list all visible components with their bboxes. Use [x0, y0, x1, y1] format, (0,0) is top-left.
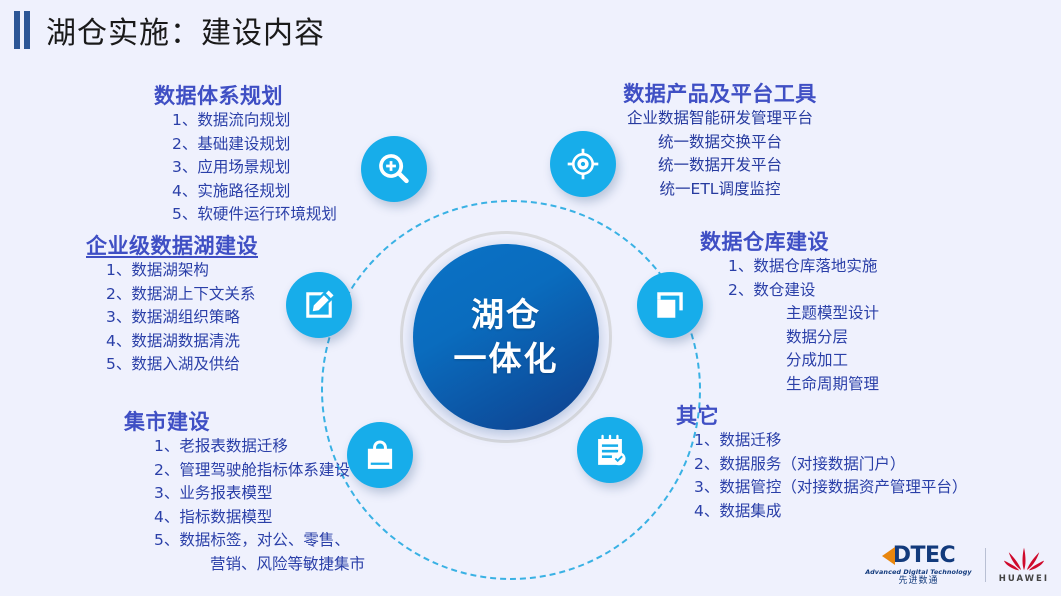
shopping-bag-icon: [363, 438, 397, 472]
huawei-flower-icon: [1004, 547, 1044, 571]
list-item: 2、数仓建设: [728, 279, 879, 303]
list-sub-item: 生命周期管理: [728, 373, 879, 397]
list-item: 3、应用场景规划: [172, 156, 337, 180]
node-enterprise-data-lake[interactable]: [286, 272, 352, 338]
title-accent-bars: [14, 11, 30, 49]
accent-bar-1: [14, 11, 20, 49]
dtec-logo-text: DTEC: [893, 545, 955, 567]
dtec-chinese-name: 先进数通: [898, 577, 938, 586]
list-item: 3、业务报表模型: [154, 482, 365, 506]
list-item: 5、数据标签，对公、零售、: [154, 529, 365, 553]
block-data-system-planning: 数据体系规划 1、数据流向规划 2、基础建设规划 3、应用场景规划 4、实施路径…: [148, 84, 337, 227]
edit-pencil-square-icon: [302, 288, 336, 322]
list-item: 1、数据湖架构: [106, 259, 258, 283]
block-list: 1、数据仓库落地实施 2、数仓建设 主题模型设计 数据分层 分成加工 生命周期管…: [700, 255, 879, 396]
huawei-logo-text: HUAWEI: [999, 574, 1049, 584]
page-title-text: 湖仓实施：建设内容: [46, 8, 325, 52]
block-list: 1、老报表数据迁移 2、管理驾驶舱指标体系建设 3、业务报表模型 4、指标数据模…: [124, 435, 365, 576]
list-item: 4、数据湖数据清洗: [106, 330, 258, 354]
list-item: 2、数据服务（对接数据门户）: [694, 453, 967, 477]
list-item: 统一数据交换平台: [596, 131, 844, 155]
hub-label-line1: 湖仓: [471, 293, 541, 337]
hub-label-line2: 一体化: [454, 337, 559, 381]
block-list: 1、数据湖架构 2、数据湖上下文关系 3、数据湖组织策略 4、数据湖数据清洗 5…: [86, 259, 258, 377]
hub-center-circle: 湖仓 一体化: [413, 244, 599, 430]
block-heading: 企业级数据湖建设: [86, 234, 258, 259]
dtec-logo: DTEC Advanced Digital Technology 先进数通: [865, 545, 971, 586]
list-item: 4、数据集成: [694, 500, 967, 524]
list-item: 3、数据管控（对接数据资产管理平台）: [694, 476, 967, 500]
list-sub-item: 主题模型设计: [728, 302, 879, 326]
node-data-warehouse[interactable]: [637, 272, 703, 338]
list-item-continuation: 营销、风险等敏捷集市: [154, 553, 365, 577]
block-heading: 其它: [676, 404, 967, 429]
accent-bar-2: [24, 11, 30, 49]
list-item: 1、数据迁移: [694, 429, 967, 453]
block-heading: 集市建设: [124, 410, 365, 435]
block-data-mart: 集市建设 1、老报表数据迁移 2、管理驾驶舱指标体系建设 3、业务报表模型 4、…: [124, 410, 365, 576]
page-title: 湖仓实施：建设内容: [0, 8, 325, 52]
block-enterprise-data-lake: 企业级数据湖建设 1、数据湖架构 2、数据湖上下文关系 3、数据湖组织策略 4、…: [86, 234, 258, 377]
list-sub-item: 分成加工: [728, 349, 879, 373]
list-item: 统一ETL调度监控: [596, 178, 844, 202]
list-item: 1、数据仓库落地实施: [728, 255, 879, 279]
footer-logos: DTEC Advanced Digital Technology 先进数通 HU…: [865, 545, 1049, 586]
list-item: 1、数据流向规划: [172, 109, 337, 133]
list-item: 5、数据入湖及供给: [106, 353, 258, 377]
list-item: 1、老报表数据迁移: [154, 435, 365, 459]
block-others: 其它 1、数据迁移 2、数据服务（对接数据门户） 3、数据管控（对接数据资产管理…: [676, 404, 967, 523]
block-heading: 数据仓库建设: [700, 230, 879, 255]
block-heading: 数据体系规划: [148, 84, 337, 109]
block-list: 1、数据流向规划 2、基础建设规划 3、应用场景规划 4、实施路径规划 5、软硬…: [148, 109, 337, 227]
list-item: 2、基础建设规划: [172, 133, 337, 157]
node-data-system-planning[interactable]: [361, 136, 427, 202]
list-item: 4、实施路径规划: [172, 180, 337, 204]
list-item: 3、数据湖组织策略: [106, 306, 258, 330]
huawei-logo: HUAWEI: [999, 547, 1049, 584]
block-list: 企业数据智能研发管理平台 统一数据交换平台 统一数据开发平台 统一ETL调度监控: [596, 107, 844, 201]
dtec-triangle-icon: [882, 547, 895, 565]
block-data-warehouse: 数据仓库建设 1、数据仓库落地实施 2、数仓建设 主题模型设计 数据分层 分成加…: [700, 230, 879, 396]
list-item: 5、软硬件运行环境规划: [172, 203, 337, 227]
dtec-logo-mark: DTEC: [882, 545, 955, 567]
slide-canvas: 湖仓实施：建设内容 湖仓 一体化: [0, 0, 1061, 596]
list-sub-item: 数据分层: [728, 326, 879, 350]
list-item: 4、指标数据模型: [154, 506, 365, 530]
footer-divider: [985, 548, 986, 582]
block-heading: 数据产品及平台工具: [596, 82, 844, 107]
zoom-in-icon: [377, 152, 411, 186]
notepad-check-icon: [593, 433, 627, 467]
copy-layers-icon: [653, 288, 687, 322]
block-list: 1、数据迁移 2、数据服务（对接数据门户） 3、数据管控（对接数据资产管理平台）…: [676, 429, 967, 523]
node-others[interactable]: [577, 417, 643, 483]
list-item: 2、管理驾驶舱指标体系建设: [154, 459, 365, 483]
list-item: 2、数据湖上下文关系: [106, 283, 258, 307]
block-data-products-platform: 数据产品及平台工具 企业数据智能研发管理平台 统一数据交换平台 统一数据开发平台…: [596, 82, 844, 201]
dtec-tagline: Advanced Digital Technology: [865, 569, 971, 575]
list-item: 统一数据开发平台: [596, 154, 844, 178]
crosshair-target-icon: [566, 147, 600, 181]
list-item: 企业数据智能研发管理平台: [596, 107, 844, 131]
